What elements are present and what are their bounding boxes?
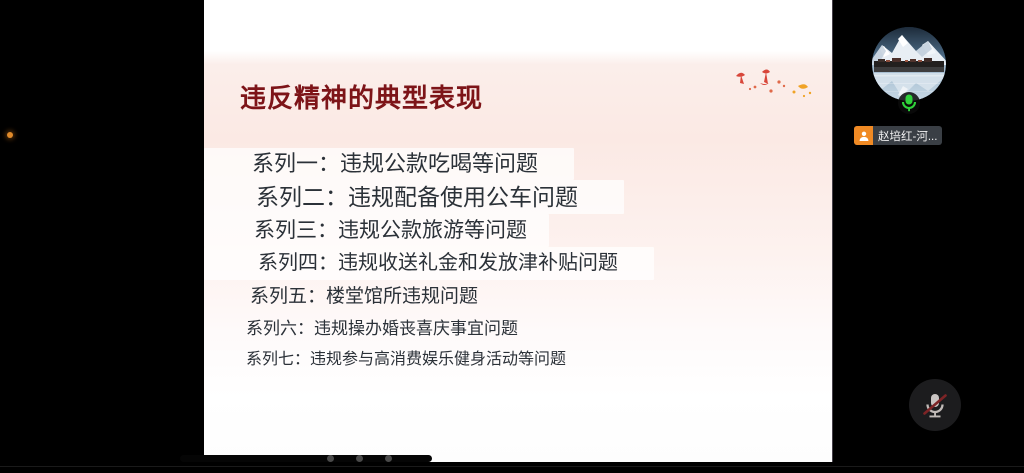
meeting-stage: 违反精神的典型表现 系列一：违规公款吃喝等问题 系列二：违规配备使用公车问题 系… [0, 0, 1024, 473]
page-dot[interactable] [385, 455, 392, 462]
list-item: 系列七：违规参与高消费娱乐健身活动等问题 [204, 344, 833, 375]
list-item-label: 系列七：违规参与高消费娱乐健身活动等问题 [246, 344, 566, 375]
decorative-flecks-icon [724, 62, 824, 112]
slide-right-edge [832, 0, 833, 462]
list-item-label: 系列六：违规操办婚丧喜庆事宜问题 [246, 313, 518, 344]
shared-slide[interactable]: 违反精神的典型表现 系列一：违规公款吃喝等问题 系列二：违规配备使用公车问题 系… [204, 0, 833, 462]
list-item-label: 系列四：违规收送礼金和发放津补贴问题 [258, 247, 618, 280]
microphone-active-icon [898, 91, 920, 115]
slide-title: 违反精神的典型表现 [240, 78, 483, 115]
slide-page-indicator-bar[interactable] [180, 455, 432, 462]
mute-button[interactable] [909, 379, 961, 431]
slide-bullet-list: 系列一：违规公款吃喝等问题 系列二：违规配备使用公车问题 系列三：违规公款旅游等… [204, 148, 833, 375]
list-item-label: 系列五：楼堂馆所违规问题 [250, 280, 478, 313]
participant-name-badge: 赵培红-河... [854, 126, 942, 145]
microphone-muted-icon [918, 388, 952, 422]
list-item-label: 系列二：违规配备使用公车问题 [256, 180, 578, 214]
list-item: 系列二：违规配备使用公车问题 [204, 180, 833, 214]
list-item-label: 系列一：违规公款吃喝等问题 [252, 148, 538, 180]
avatar [872, 27, 946, 101]
list-item: 系列五：楼堂馆所违规问题 [204, 280, 833, 313]
list-item-label: 系列三：违规公款旅游等问题 [254, 214, 527, 247]
list-item: 系列一：违规公款吃喝等问题 [204, 148, 833, 180]
viewer-bottom-divider [0, 466, 1024, 467]
page-dot[interactable] [356, 455, 363, 462]
page-dot[interactable] [327, 455, 334, 462]
screen-artifact-dot [7, 132, 13, 138]
participant-name: 赵培红-河... [873, 128, 942, 144]
list-item: 系列六：违规操办婚丧喜庆事宜问题 [204, 313, 833, 344]
participant-tile[interactable]: 赵培红-河... [846, 14, 976, 139]
list-item: 系列四：违规收送礼金和发放津补贴问题 [204, 247, 833, 280]
person-icon [854, 126, 873, 145]
list-item: 系列三：违规公款旅游等问题 [204, 214, 833, 247]
